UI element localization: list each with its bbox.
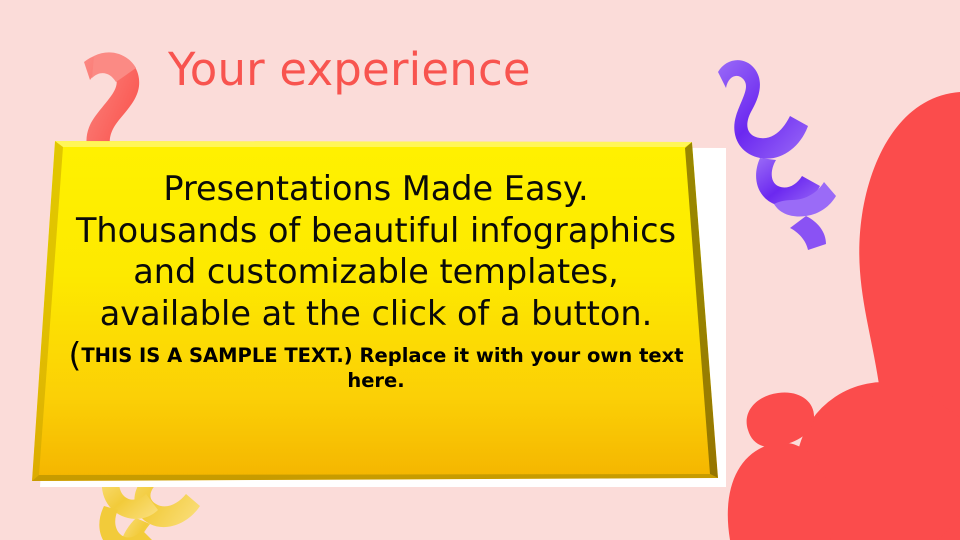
card-text-block: Presentations Made Easy. Thousands of be…: [48, 168, 704, 394]
sample-text-caps: THIS IS A SAMPLE TEXT.): [81, 344, 352, 367]
body-line-3: and customizable templates,: [133, 252, 619, 291]
card-sample-text: (THIS IS A SAMPLE TEXT.) Replace it with…: [48, 344, 704, 394]
sample-text-rest: Replace it with your own text here.: [347, 344, 683, 392]
slide-canvas: Your experience Presentations Made Easy.…: [0, 0, 960, 540]
card-body-text: Presentations Made Easy. Thousands of be…: [48, 168, 704, 334]
body-line-4: available at the click of a button.: [100, 294, 653, 333]
body-line-1: Presentations Made Easy.: [163, 169, 588, 208]
body-line-2: Thousands of beautiful infographics: [76, 211, 676, 250]
sample-open-paren: (: [68, 335, 81, 374]
